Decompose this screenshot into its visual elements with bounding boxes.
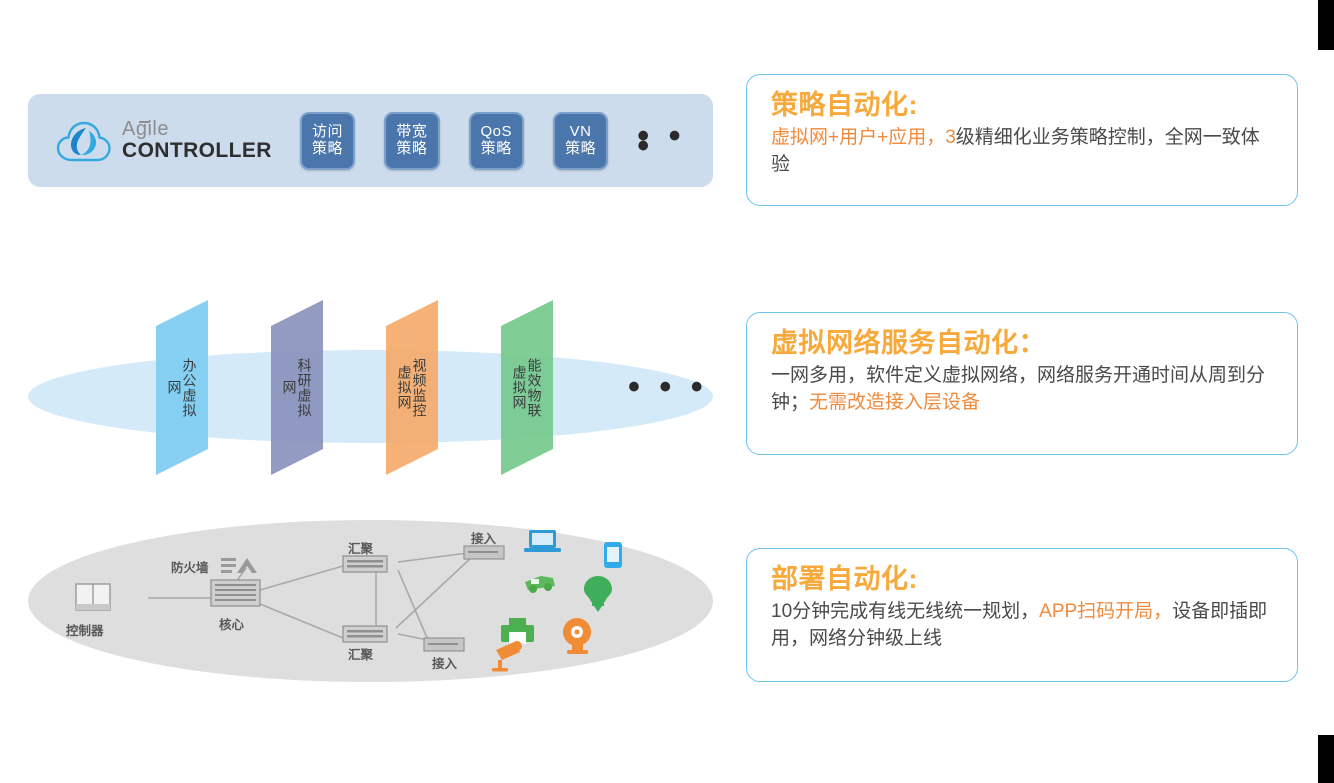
card-title: 部署自动化: bbox=[771, 563, 1277, 595]
cctv-icon bbox=[492, 641, 522, 672]
policy-chip-line2: 策略 bbox=[481, 141, 512, 158]
topo-label-firewall: 防火墙 bbox=[171, 557, 209, 576]
core-switch-icon bbox=[211, 580, 260, 606]
info-card-policy-automation: 策略自动化: 虚拟网+用户+应用，3级精细化业务策略控制，全网一致体验 bbox=[746, 74, 1298, 206]
card-body: 10分钟完成有线无线统一规划，APP扫码开局，设备即插即用，网络分钟级上线 bbox=[771, 599, 1277, 651]
policy-chip-line2: 策略 bbox=[565, 141, 596, 158]
card-title: 策略自动化: bbox=[771, 89, 1277, 121]
logo-agile-text: Agile bbox=[122, 119, 169, 140]
vn-more-ellipsis: • • • bbox=[628, 382, 708, 392]
policy-chip-bandwidth[interactable]: 带宽 策略 bbox=[384, 112, 439, 170]
info-card-deployment-automation: 部署自动化: 10分钟完成有线无线统一规划，APP扫码开局，设备即插即用，网络分… bbox=[746, 548, 1298, 682]
card-body-segment: 10分钟完成有线无线统一规划， bbox=[771, 601, 1039, 622]
topo-label-access-top: 接入 bbox=[471, 528, 496, 547]
virtual-network-scene: 办公虚拟 网 科研虚拟 网 视频监控 虚拟网 bbox=[28, 300, 713, 485]
policy-chip-line1: 带宽 bbox=[396, 124, 427, 141]
camera-icon bbox=[563, 618, 591, 654]
agile-controller-bar: Agile CONTROLLER 访问 策略 带宽 策略 QoS 策略 VN 策… bbox=[28, 94, 713, 187]
vn-plane-office[interactable]: 办公虚拟 网 bbox=[156, 300, 208, 475]
topo-label-controller: 控制器 bbox=[66, 620, 104, 639]
laptop-icon bbox=[524, 530, 561, 552]
vehicle-icon bbox=[525, 576, 555, 593]
logo-macron bbox=[139, 121, 150, 123]
policy-chip-line2: 策略 bbox=[396, 141, 427, 158]
policy-chip-group: 访问 策略 带宽 策略 QoS 策略 VN 策略 • • • bbox=[300, 112, 713, 170]
corner-mark-bottom-right bbox=[1318, 735, 1334, 783]
policy-chip-access[interactable]: 访问 策略 bbox=[300, 112, 355, 170]
access-switch-icon bbox=[464, 546, 504, 559]
policy-chip-line1: QoS bbox=[480, 124, 512, 141]
physical-network-ellipse bbox=[28, 350, 713, 443]
policy-more-ellipsis: • • • bbox=[637, 131, 713, 151]
vn-plane-video-surveillance[interactable]: 视频监控 虚拟网 bbox=[386, 300, 438, 475]
policy-chip-line1: VN bbox=[570, 124, 592, 141]
deployment-topology-scene: 控制器 防火墙 核心 汇聚 汇聚 接入 接入 bbox=[28, 520, 713, 682]
topo-label-core: 核心 bbox=[219, 614, 244, 633]
policy-chip-line2: 策略 bbox=[312, 141, 343, 158]
logo-wordmark: Agile CONTROLLER bbox=[122, 119, 272, 162]
vn-plane-research[interactable]: 科研虚拟 网 bbox=[271, 300, 323, 475]
topo-label-aggregation-bottom: 汇聚 bbox=[348, 644, 373, 663]
bulb-icon bbox=[584, 576, 612, 612]
vn-plane-energy-iot[interactable]: 能效物联 虚拟网 bbox=[501, 300, 553, 475]
card-body: 一网多用，软件定义虚拟网络，网络服务开通时间从周到分钟；无需改造接入层设备 bbox=[771, 363, 1277, 415]
printer-icon bbox=[501, 618, 534, 644]
info-card-virtual-network-automation: 虚拟网络服务自动化： 一网多用，软件定义虚拟网络，网络服务开通时间从周到分钟；无… bbox=[746, 312, 1298, 455]
card-title: 虚拟网络服务自动化： bbox=[771, 327, 1277, 359]
corner-mark-top-right bbox=[1318, 0, 1334, 50]
slide-canvas: Agile CONTROLLER 访问 策略 带宽 策略 QoS 策略 VN 策… bbox=[0, 0, 1334, 783]
card-body-segment-highlight: 虚拟网+用户+应用，3 bbox=[771, 127, 956, 148]
card-body-segment-highlight: 无需改造接入层设备 bbox=[809, 392, 980, 413]
policy-chip-vn[interactable]: VN 策略 bbox=[553, 112, 608, 170]
agile-controller-logo: Agile CONTROLLER bbox=[56, 118, 272, 164]
tablet-icon bbox=[604, 542, 622, 568]
controller-server-icon bbox=[76, 584, 110, 610]
access-switch-icon bbox=[424, 638, 464, 651]
policy-chip-line1: 访问 bbox=[312, 124, 343, 141]
topo-label-access-bottom: 接入 bbox=[432, 653, 457, 672]
firewall-icon bbox=[221, 558, 257, 573]
logo-controller-text: CONTROLLER bbox=[122, 140, 272, 162]
topo-label-aggregation-top: 汇聚 bbox=[348, 538, 373, 557]
card-body-segment-highlight: APP扫码开局， bbox=[1039, 601, 1172, 622]
cloud-swirl-icon bbox=[56, 118, 112, 164]
card-body: 虚拟网+用户+应用，3级精细化业务策略控制，全网一致体验 bbox=[771, 125, 1277, 177]
aggregation-switch-icon bbox=[343, 556, 387, 572]
policy-chip-qos[interactable]: QoS 策略 bbox=[469, 112, 524, 170]
aggregation-switch-icon bbox=[343, 626, 387, 642]
